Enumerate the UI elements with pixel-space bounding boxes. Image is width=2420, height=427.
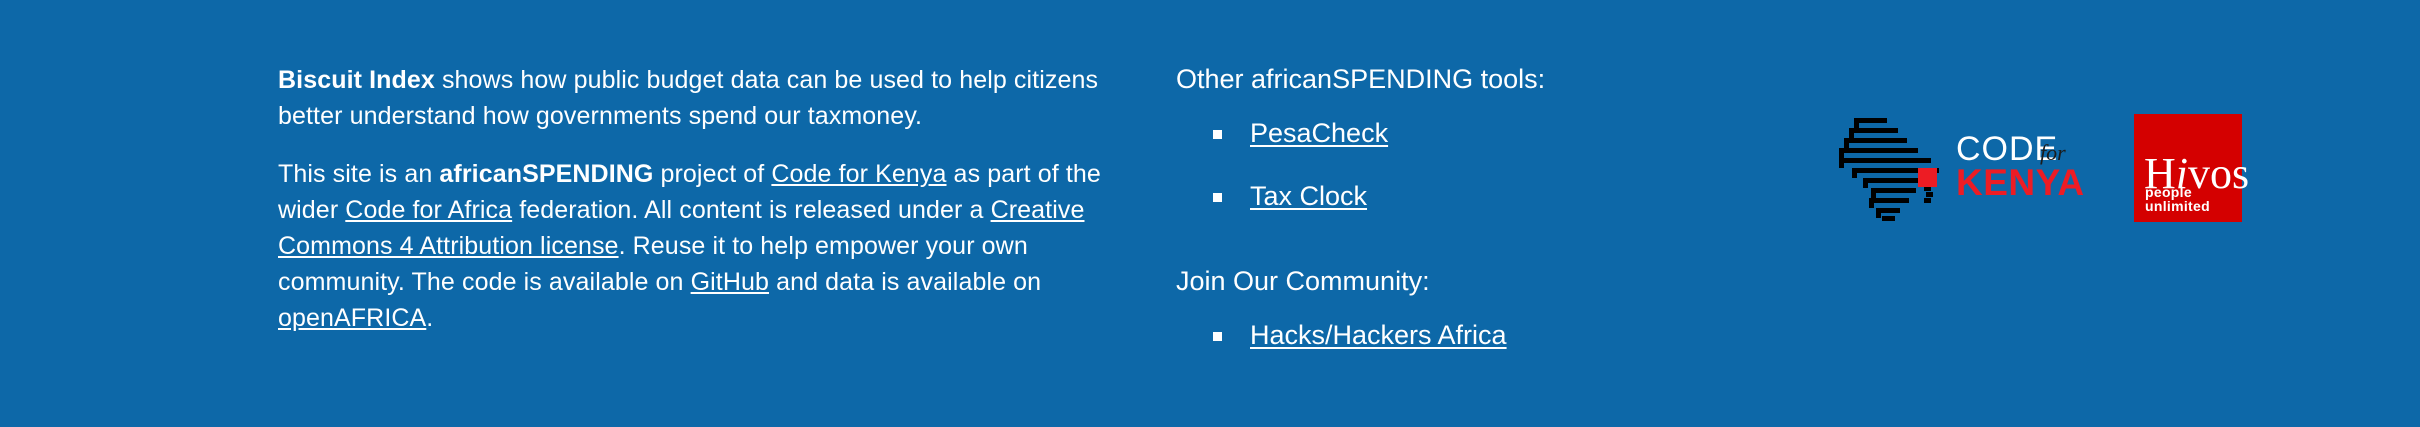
red-square-accent xyxy=(1918,168,1937,187)
list-item: PesaCheck xyxy=(1176,116,1796,155)
list-item: Tax Clock xyxy=(1176,179,1796,218)
link-github[interactable]: GitHub xyxy=(691,268,769,296)
community-list: Hacks/Hackers Africa xyxy=(1176,318,1796,357)
africa-map-icon xyxy=(1838,112,1946,224)
bullet-square-icon xyxy=(1213,130,1222,139)
link-pesacheck[interactable]: PesaCheck xyxy=(1250,118,1388,148)
about-p2-part7: . xyxy=(426,304,433,332)
about-paragraph-1: Biscuit Index shows how public budget da… xyxy=(278,62,1138,134)
about-paragraph-2: This site is an africanSPENDING project … xyxy=(278,156,1138,336)
tools-heading: Other africanSPENDING tools: xyxy=(1176,62,1796,96)
hivos-logo[interactable]: Hivos people unlimited xyxy=(2134,114,2242,222)
bullet-square-icon xyxy=(1213,193,1222,202)
about-brand-africanspending: africanSPENDING xyxy=(439,160,653,188)
link-openafrica[interactable]: openAFRICA xyxy=(278,304,426,332)
link-code-for-kenya[interactable]: Code for Kenya xyxy=(771,160,946,188)
about-lead-brand: Biscuit Index xyxy=(278,66,435,94)
about-p2-part6: and data is available on xyxy=(769,268,1041,296)
about-p2-part2: project of xyxy=(653,160,771,188)
community-heading: Join Our Community: xyxy=(1176,264,1796,298)
bullet-square-icon xyxy=(1213,332,1222,341)
link-tax-clock[interactable]: Tax Clock xyxy=(1250,181,1367,211)
about-p2-part4: federation. All content is released unde… xyxy=(512,196,990,224)
code-for-kenya-wordmark: CODE for KENYA xyxy=(1956,130,2084,206)
link-code-for-africa[interactable]: Code for Africa xyxy=(345,196,512,224)
code-for-kenya-logo[interactable]: CODE for KENYA xyxy=(1838,112,2084,224)
hivos-tagline: people unlimited xyxy=(2145,185,2242,213)
list-item: Hacks/Hackers Africa xyxy=(1176,318,1796,357)
footer-links-column: Other africanSPENDING tools: PesaCheck T… xyxy=(1176,62,1796,357)
logo-text-kenya: KENYA xyxy=(1956,164,2085,201)
footer-logos-column: CODE for KENYA Hivos people unlimited xyxy=(1838,112,2242,224)
about-p2-part1: This site is an xyxy=(278,160,439,188)
logo-text-for: for xyxy=(2040,142,2066,164)
site-footer: Biscuit Index shows how public budget da… xyxy=(0,0,2420,427)
tools-list: PesaCheck Tax Clock xyxy=(1176,116,1796,218)
link-hacks-hackers-africa[interactable]: Hacks/Hackers Africa xyxy=(1250,320,1507,350)
footer-about-column: Biscuit Index shows how public budget da… xyxy=(278,62,1138,336)
